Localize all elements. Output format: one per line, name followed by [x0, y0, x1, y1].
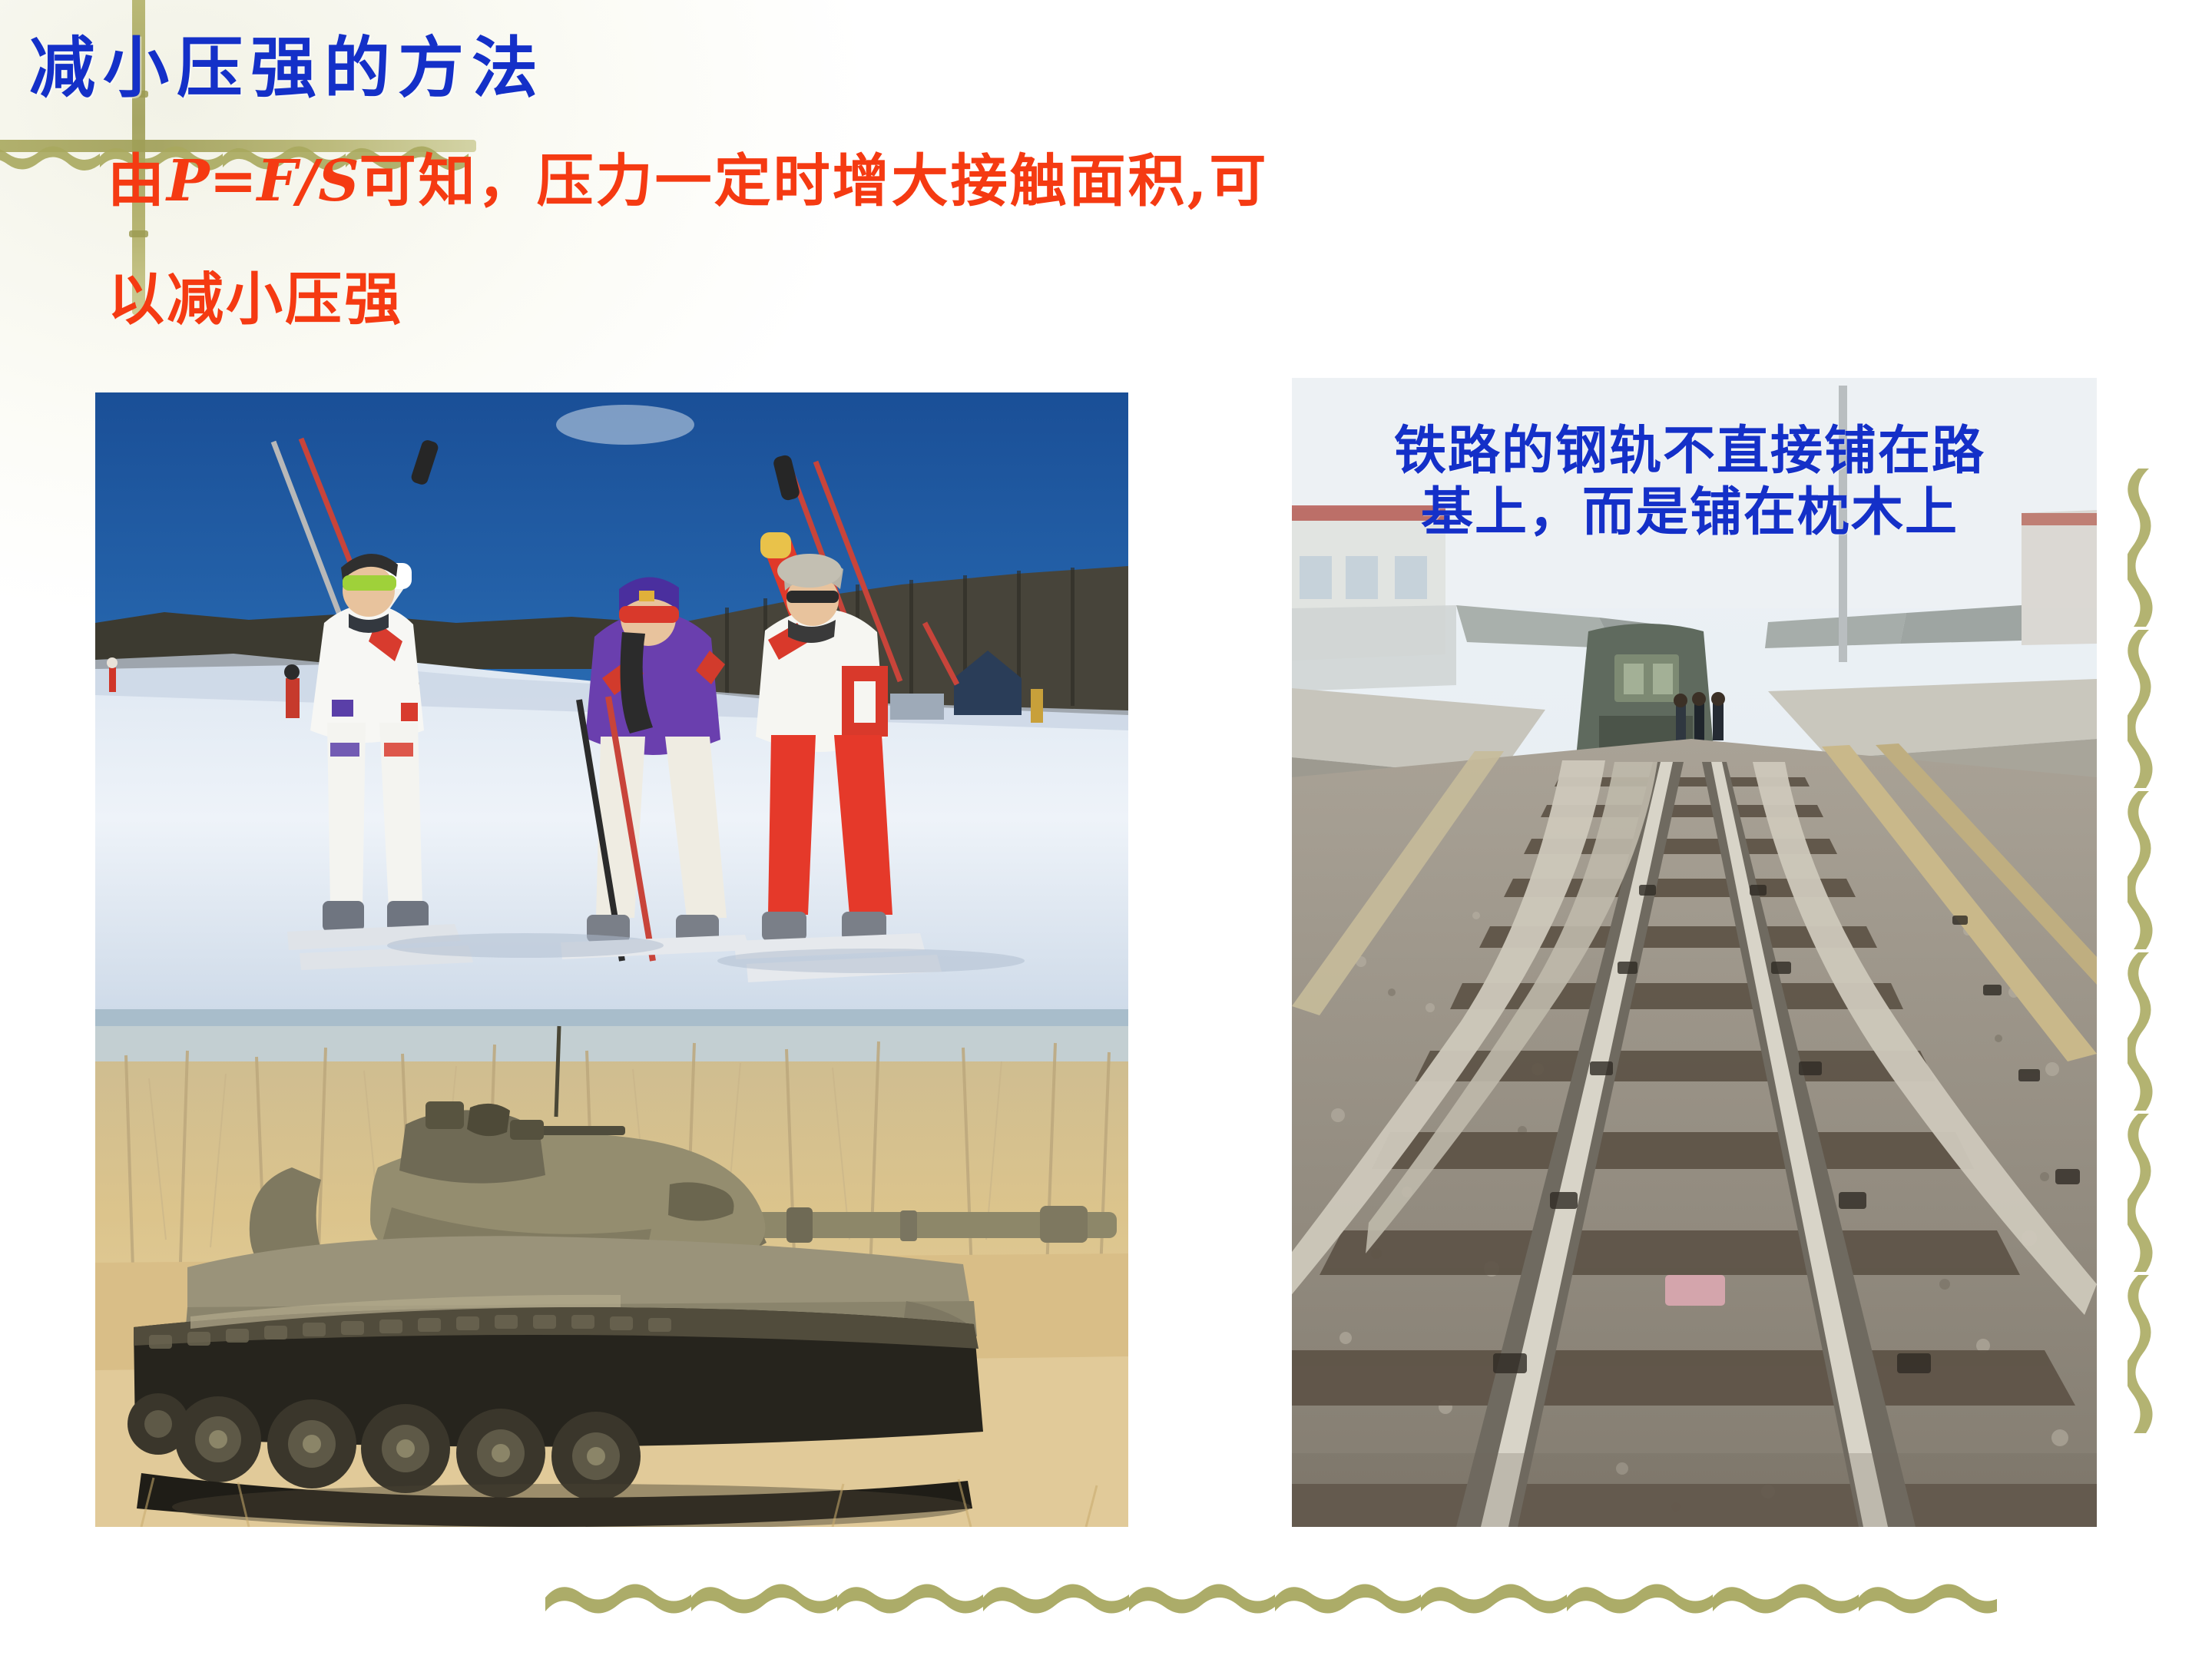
photo-skiers [95, 392, 1128, 1009]
body-text-suffix: 可知，压力一定时增大接触面积,可 [359, 148, 1269, 214]
bamboo-node-icon [129, 230, 148, 237]
slide-canvas: 减小压强的方法 由P=F/S可知，压力一定时增大接触面积,可 以减小压强 [0, 0, 2212, 1659]
body-text-line-2: 以减小压强 [108, 253, 403, 336]
photo-tank [95, 1009, 1128, 1527]
railway-caption-line-1: 铁路的钢轨不直接铺在路 [1271, 421, 2108, 482]
body-text-prefix: 由 [108, 148, 167, 214]
body-text-line-1: 由P=F/S可知，压力一定时增大接触面积,可 [108, 135, 1268, 217]
railway-caption-line-2: 基上，而是铺在枕木上 [1271, 482, 2108, 544]
page-title: 减小压强的方法 [29, 14, 545, 110]
pressure-formula: P=F/S [167, 148, 359, 214]
railway-caption: 铁路的钢轨不直接铺在路 基上，而是铺在枕木上 [1271, 421, 2108, 544]
photo-railway [1292, 378, 2097, 1527]
wave-border-bottom [538, 1575, 1997, 1614]
wave-border-right [2128, 461, 2167, 1459]
